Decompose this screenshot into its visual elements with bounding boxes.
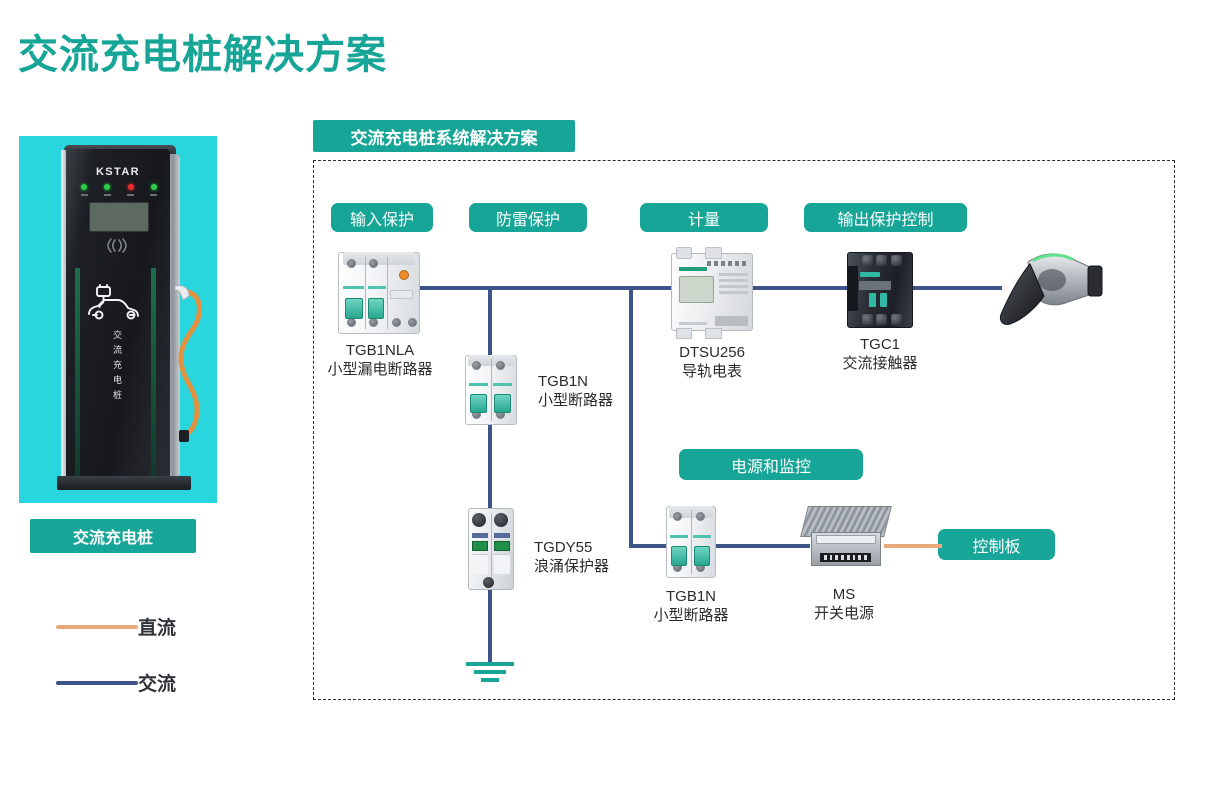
led-label <box>127 194 134 196</box>
wire-ac-drop-to-aux <box>629 286 633 548</box>
section-label-power-monitoring: 电源和监控 <box>679 449 863 480</box>
wire-ac-contactor-to-gun <box>912 286 1002 290</box>
pile-vertical-text: 交流充电桩 <box>66 328 170 403</box>
component-psu-ms <box>804 506 888 574</box>
ground-symbol-bar <box>474 670 506 674</box>
component-rcbo-tgb1nla <box>338 252 420 334</box>
wire-ac-mcb-to-psu <box>714 544 810 548</box>
led-indicator <box>151 184 157 190</box>
wire-ac-drop-to-mcb <box>488 286 492 356</box>
pile-led-labels <box>81 194 157 196</box>
wire-ac-meter-to-contactor <box>752 286 850 290</box>
pile-display-screen <box>89 202 149 232</box>
section-label-control-board: 控制板 <box>938 529 1055 560</box>
wire-ac-spd-to-ground <box>488 588 492 664</box>
pile-base <box>57 476 191 490</box>
component-mcb-tgb1n-aux <box>666 506 716 578</box>
component-label-mcb-main: TGB1N 小型断路器 <box>538 372 613 410</box>
section-label-surge-protection: 防雷保护 <box>469 203 587 232</box>
component-mcb-tgb1n-main <box>465 355 517 425</box>
ground-symbol-bar <box>481 678 499 682</box>
component-label-psu: MS 开关电源 <box>786 585 902 623</box>
led-label <box>81 194 88 196</box>
ground-symbol-bar <box>466 662 514 666</box>
component-label-rcbo: TGB1NLA 小型漏电断路器 <box>300 341 460 379</box>
legend-swatch-ac <box>56 681 138 685</box>
led-indicator <box>128 184 134 190</box>
legend-swatch-dc <box>56 625 138 629</box>
component-spd-tgdy55 <box>468 508 514 590</box>
led-indicator <box>81 184 87 190</box>
rfid-icon <box>66 236 170 261</box>
wire-dc-psu-to-control-board <box>884 544 942 548</box>
component-label-spd: TGDY55 浪涌保护器 <box>534 538 609 576</box>
led-label <box>150 194 157 196</box>
component-meter-dtsu256 <box>671 253 753 331</box>
section-label-metering: 计量 <box>640 203 768 232</box>
section-label-output-control: 输出保护控制 <box>804 203 967 232</box>
pile-brand-logo: KSTAR <box>66 166 170 178</box>
page-title: 交流充电桩解决方案 <box>18 22 387 80</box>
product-caption: 交流充电桩 <box>30 519 196 553</box>
component-contactor-tgc1 <box>847 252 913 328</box>
pile-left-edge <box>61 150 66 478</box>
led-label <box>104 194 111 196</box>
ev-charging-icon <box>85 284 151 320</box>
component-label-contactor: TGC1 交流接触器 <box>822 335 938 373</box>
wire-ac-mcb-to-spd <box>488 424 492 510</box>
legend-label-dc: 直流 <box>138 613 176 640</box>
ev-connector-gun <box>992 250 1104 332</box>
component-label-meter: DTSU256 导轨电表 <box>652 343 772 381</box>
wire-ac-aux-to-mcb <box>629 544 668 548</box>
pile-led-row <box>81 184 157 190</box>
component-label-mcb-aux: TGB1N 小型断路器 <box>631 587 751 625</box>
led-indicator <box>104 184 110 190</box>
wire-ac-main-bus <box>415 286 673 290</box>
section-banner: 交流充电桩系统解决方案 <box>313 120 575 152</box>
section-label-input-protection: 输入保护 <box>331 203 433 232</box>
diagram-page: 交流充电桩解决方案 KSTAR <box>0 0 1213 812</box>
charging-cable <box>169 284 209 444</box>
rcbo-test-button <box>399 270 409 280</box>
legend-label-ac: 交流 <box>138 669 176 696</box>
charging-pile-photo: KSTAR <box>19 136 217 503</box>
